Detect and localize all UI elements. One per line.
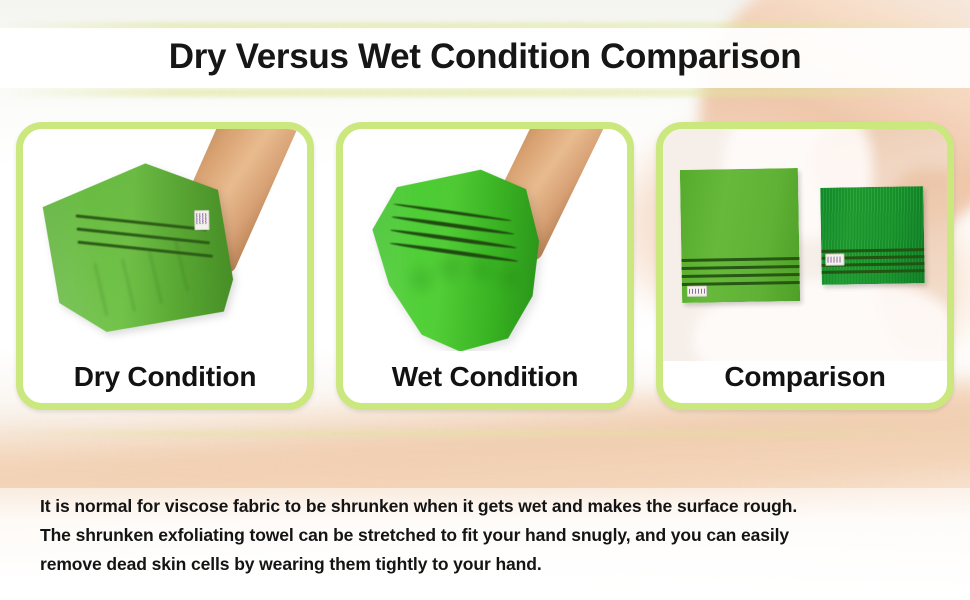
panel-comparison: Comparison — [656, 122, 954, 410]
dry-scene — [23, 129, 307, 351]
caption-line-1: It is normal for viscose fabric to be sh… — [40, 492, 934, 521]
towel-wet — [820, 186, 925, 285]
wet-scene — [343, 129, 627, 351]
caption-line-2: The shrunken exfoliating towel can be st… — [40, 521, 934, 550]
care-tag — [825, 253, 844, 265]
caption-block: It is normal for viscose fabric to be sh… — [40, 492, 934, 579]
page-title: Dry Versus Wet Condition Comparison — [0, 31, 970, 83]
panel-label-wet: Wet Condition — [343, 361, 627, 393]
infographic-image: Dry Versus Wet Condition Comparison — [0, 0, 970, 600]
mitt-wet — [367, 164, 551, 351]
comparison-scene — [663, 129, 947, 361]
care-tag — [687, 286, 707, 297]
caption-line-3: remove dead skin cells by wearing them t… — [40, 550, 934, 579]
panel-label-comparison: Comparison — [663, 361, 947, 393]
mitt-wet-shading — [367, 164, 551, 351]
panel-dry-condition: Dry Condition — [16, 122, 314, 410]
panel-wet-condition: Wet Condition — [336, 122, 634, 410]
panel-dry-photo — [23, 129, 307, 351]
panel-wet-photo — [343, 129, 627, 351]
panel-label-dry: Dry Condition — [23, 361, 307, 393]
panel-comparison-photo — [663, 129, 947, 361]
care-tag — [194, 210, 209, 230]
mitt-dry — [33, 149, 245, 347]
panel-row: Dry Condition Wet Cond — [16, 122, 954, 410]
towel-dry — [680, 168, 800, 303]
accent-band-lower — [0, 430, 970, 437]
accent-band-under-title — [0, 88, 970, 97]
